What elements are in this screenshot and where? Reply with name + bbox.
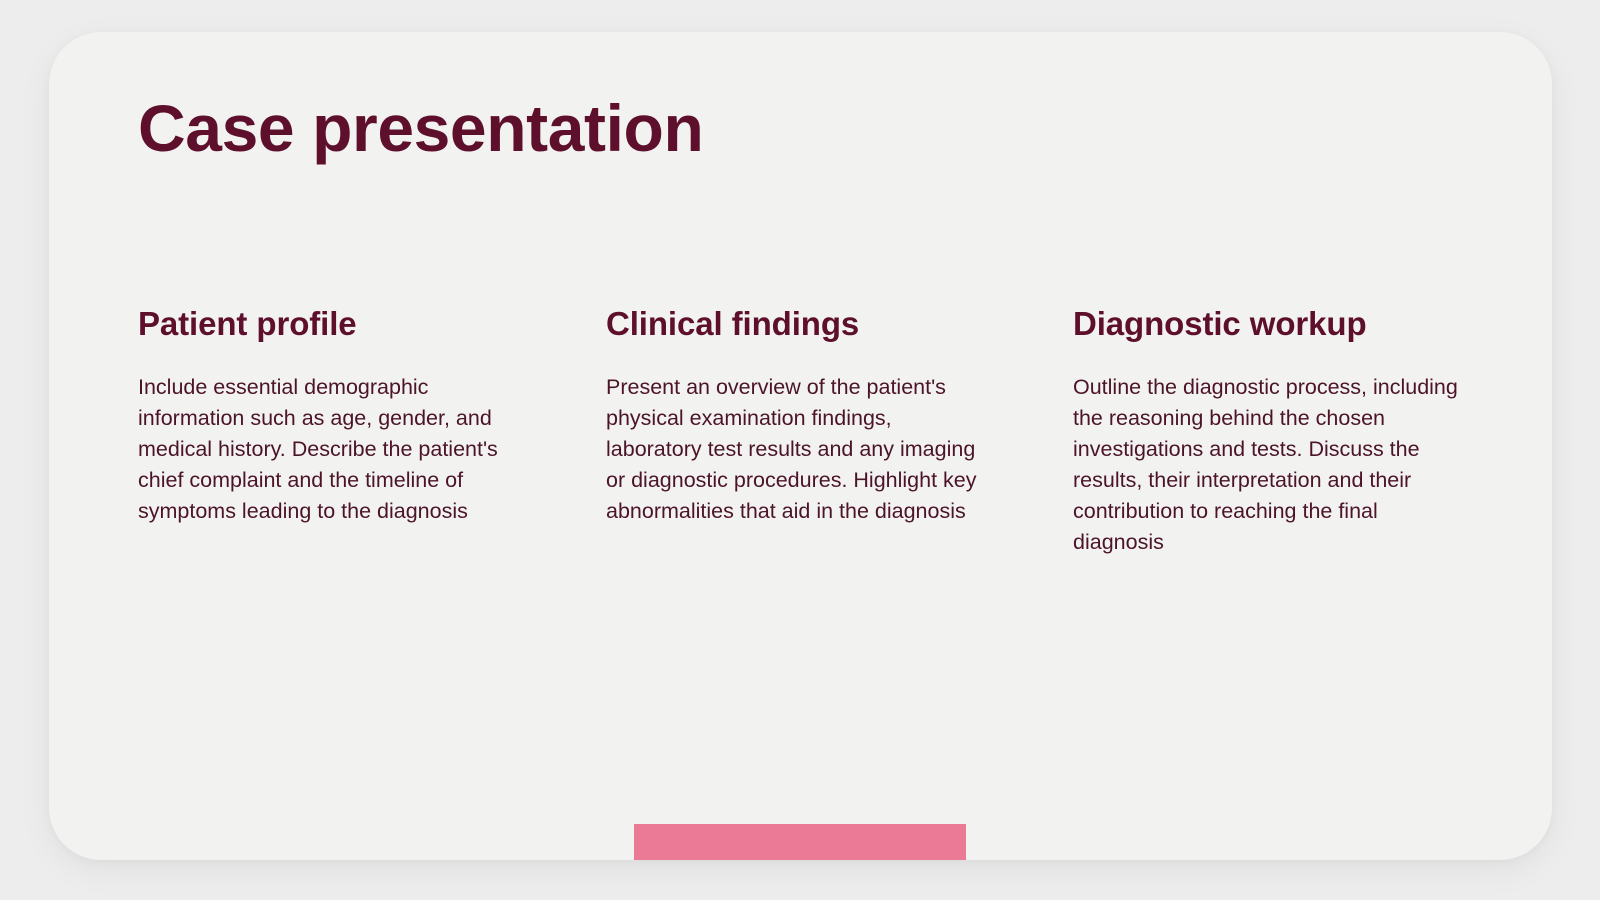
column-body-clinical-findings: Present an overview of the patient's phy…	[606, 372, 993, 527]
column-diagnostic-workup: Diagnostic workup Outline the diagnostic…	[1073, 304, 1478, 558]
column-heading-patient-profile: Patient profile	[138, 304, 526, 344]
slide-card: Case presentation Patient profile Includ…	[49, 32, 1552, 860]
slide-root: Case presentation Patient profile Includ…	[0, 0, 1600, 900]
column-heading-diagnostic-workup: Diagnostic workup	[1073, 304, 1468, 344]
column-clinical-findings: Clinical findings Present an overview of…	[606, 304, 1073, 527]
column-body-patient-profile: Include essential demographic informatio…	[138, 372, 526, 527]
column-body-diagnostic-workup: Outline the diagnostic process, includin…	[1073, 372, 1468, 558]
page-title: Case presentation	[138, 94, 703, 164]
content-columns: Patient profile Include essential demogr…	[138, 304, 1478, 558]
column-heading-clinical-findings: Clinical findings	[606, 304, 993, 344]
column-patient-profile: Patient profile Include essential demogr…	[138, 304, 606, 527]
accent-bar	[634, 824, 966, 860]
